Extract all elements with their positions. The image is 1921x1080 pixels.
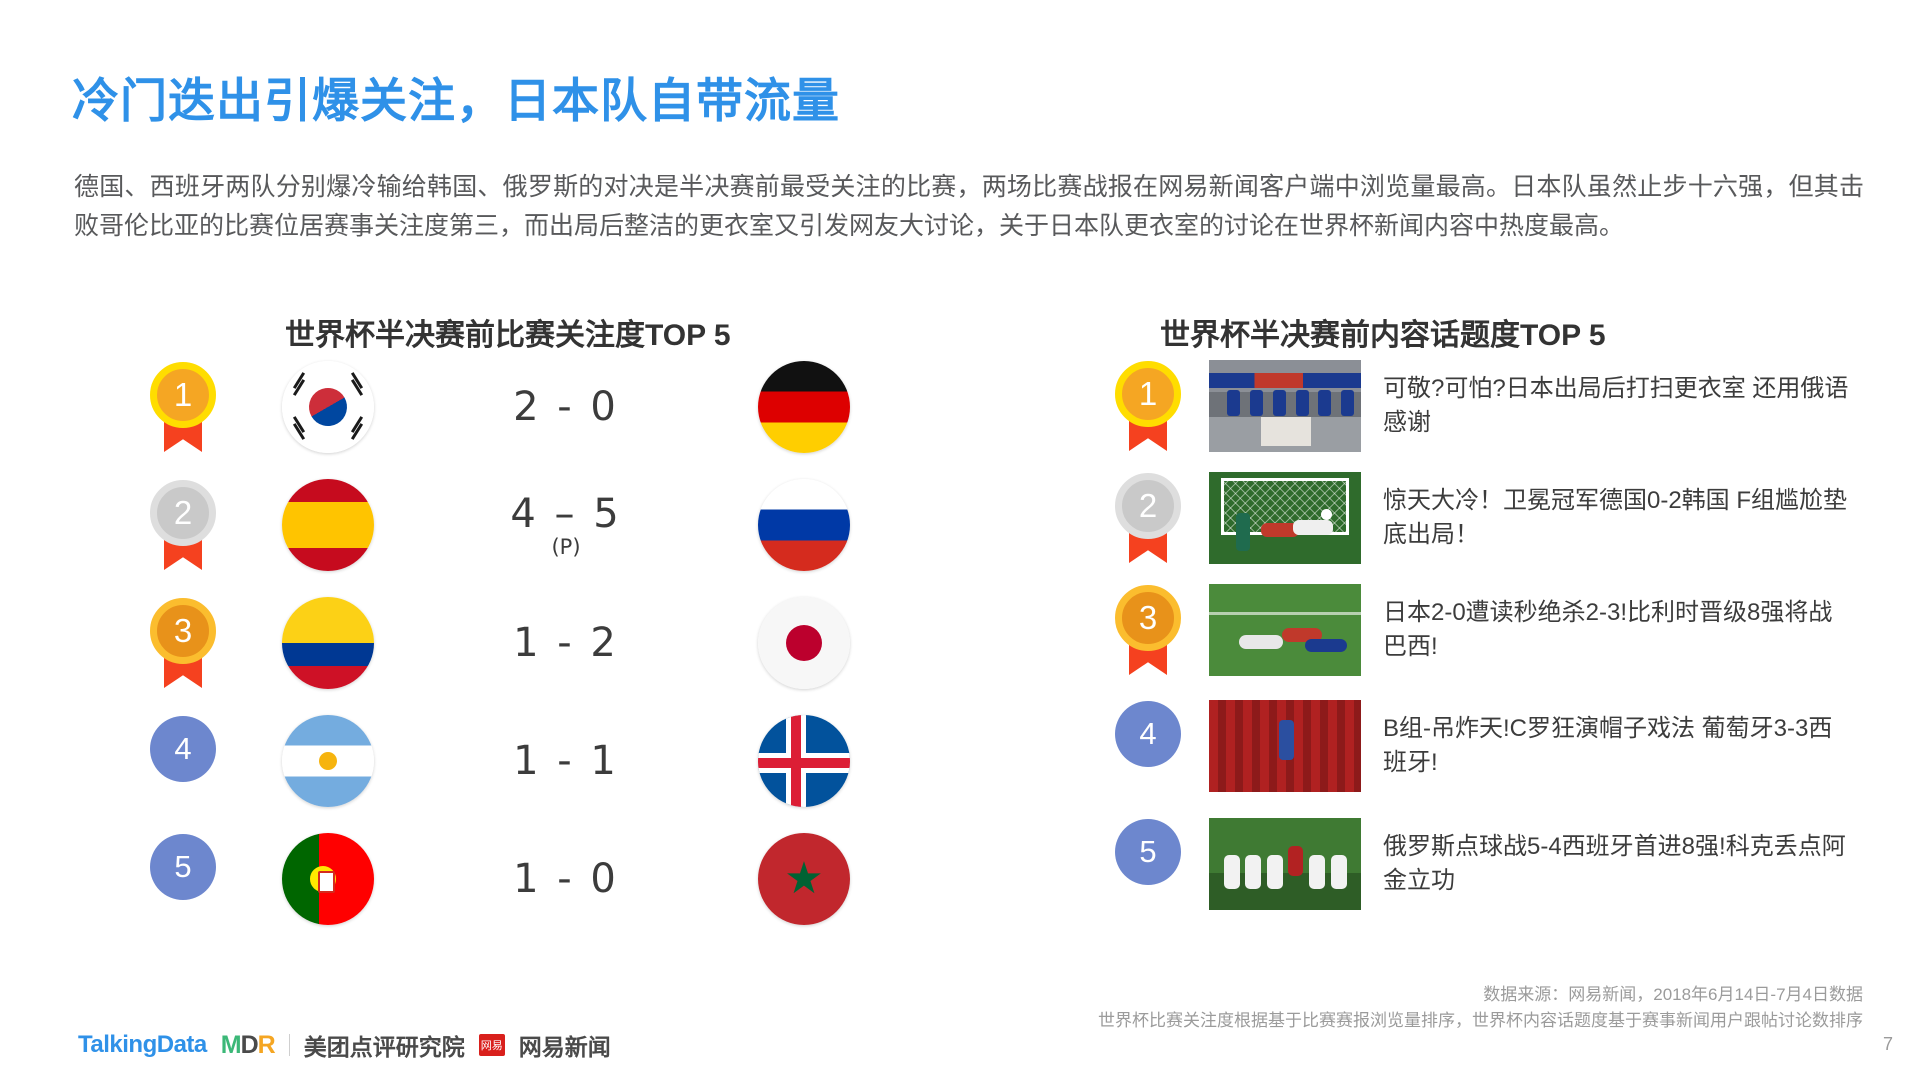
match-score-cell: 1 - 1 xyxy=(374,738,758,784)
news-rank-medal-1: 1 xyxy=(1115,361,1191,451)
mdr-logo: MDR xyxy=(221,1031,275,1060)
match-score: 4 – 5 xyxy=(374,491,758,537)
news-rank-medal-2: 2 xyxy=(1115,473,1191,563)
meituan-research-logo: 美团点评研究院 xyxy=(304,1028,465,1062)
match-score: 1 - 1 xyxy=(374,738,758,784)
away-team-flag-japan-icon xyxy=(758,597,850,689)
away-team-flag-russia-icon xyxy=(758,479,850,571)
match-row: 41 - 1 xyxy=(150,702,850,820)
rank-medal-3: 3 xyxy=(150,598,226,688)
home-team-flag-korea-icon xyxy=(282,361,374,453)
news-row[interactable]: 2惊天大冷！卫冕冠军德国0-2韩国 F组尴尬垫底出局！ xyxy=(1115,462,1855,574)
news-rank-medal-4: 4 xyxy=(1115,701,1191,791)
score-note: (P) xyxy=(374,535,758,559)
home-team-flag-portugal-icon xyxy=(282,833,374,925)
home-team-flag-spain-icon xyxy=(282,479,374,571)
home-team-flag-argentina-icon xyxy=(282,715,374,807)
away-team-flag-germany-icon xyxy=(758,361,850,453)
news-headline[interactable]: 惊天大冷！卫冕冠军德国0-2韩国 F组尴尬垫底出局！ xyxy=(1383,484,1853,552)
news-thumbnail[interactable] xyxy=(1209,818,1361,910)
page-title: 冷门迭出引爆关注，日本队自带流量 xyxy=(72,62,840,131)
news-headline[interactable]: B组-吊炸天!C罗狂演帽子戏法 葡萄牙3-3西班牙! xyxy=(1383,712,1853,780)
match-score-cell: 1 - 2 xyxy=(374,620,758,666)
rank-medal-1: 1 xyxy=(150,362,226,452)
source-line-1: 数据来源：网易新闻，2018年6月14日-7月4日数据 xyxy=(1483,985,1863,1004)
away-team-flag-iceland-icon xyxy=(758,715,850,807)
match-score: 2 - 0 xyxy=(374,384,758,430)
match-score: 1 - 2 xyxy=(374,620,758,666)
rank-number: 4 xyxy=(150,716,216,782)
footer-logos: TalkingData MDR 美团点评研究院 网易 网易新闻 xyxy=(78,1028,611,1062)
match-row: 24 – 5(P) xyxy=(150,466,850,584)
page-number: 7 xyxy=(1883,1034,1893,1055)
netease-badge-icon: 网易 xyxy=(479,1034,505,1056)
news-headline[interactable]: 可敬?可怕?日本出局后打扫更衣室 还用俄语感谢 xyxy=(1383,372,1853,440)
match-row: 31 - 2 xyxy=(150,584,850,702)
match-score: 1 - 0 xyxy=(374,856,758,902)
news-row[interactable]: 4B组-吊炸天!C罗狂演帽子戏法 葡萄牙3-3西班牙! xyxy=(1115,690,1855,802)
data-source-note: 数据来源：网易新闻，2018年6月14日-7月4日数据 世界杯比赛关注度根据基于… xyxy=(1098,982,1863,1034)
rank-number: 1 xyxy=(150,362,216,428)
match-score-cell: 1 - 0 xyxy=(374,856,758,902)
news-headline[interactable]: 日本2-0遭读秒绝杀2-3!比利时晋级8强将战巴西! xyxy=(1383,596,1853,664)
netease-news-logo: 网易新闻 xyxy=(519,1028,611,1062)
rank-number: 5 xyxy=(1115,819,1181,885)
source-line-2: 世界杯比赛关注度根据基于比赛赛报浏览量排序，世界杯内容话题度基于赛事新闻用户跟帖… xyxy=(1098,1008,1863,1034)
news-thumbnail[interactable] xyxy=(1209,700,1361,792)
right-section-title: 世界杯半决赛前内容话题度TOP 5 xyxy=(1160,310,1606,354)
match-score-cell: 2 - 0 xyxy=(374,384,758,430)
news-headline[interactable]: 俄罗斯点球战5-4西班牙首进8强!科克丢点阿金立功 xyxy=(1383,830,1853,898)
rank-number: 4 xyxy=(1115,701,1181,767)
news-thumbnail[interactable] xyxy=(1209,584,1361,676)
rank-medal-4: 4 xyxy=(150,716,226,806)
talkingdata-logo: TalkingData xyxy=(78,1031,207,1059)
match-row: 12 - 0 xyxy=(150,348,850,466)
home-team-flag-colombia-icon xyxy=(282,597,374,689)
news-thumbnail[interactable] xyxy=(1209,472,1361,564)
rank-number: 1 xyxy=(1115,361,1181,427)
rank-number: 2 xyxy=(150,480,216,546)
rank-number: 3 xyxy=(1115,585,1181,651)
rank-number: 3 xyxy=(150,598,216,664)
match-score-cell: 4 – 5(P) xyxy=(374,491,758,559)
news-row[interactable]: 3日本2-0遭读秒绝杀2-3!比利时晋级8强将战巴西! xyxy=(1115,574,1855,686)
rank-number: 2 xyxy=(1115,473,1181,539)
rank-number: 5 xyxy=(150,834,216,900)
news-thumbnail[interactable] xyxy=(1209,360,1361,452)
rank-medal-2: 2 xyxy=(150,480,226,570)
news-row[interactable]: 1可敬?可怕?日本出局后打扫更衣室 还用俄语感谢 xyxy=(1115,350,1855,462)
news-rank-medal-3: 3 xyxy=(1115,585,1191,675)
intro-paragraph: 德国、西班牙两队分别爆冷输给韩国、俄罗斯的对决是半决赛前最受关注的比赛，两场比赛… xyxy=(74,168,1864,246)
news-row[interactable]: 5俄罗斯点球战5-4西班牙首进8强!科克丢点阿金立功 xyxy=(1115,808,1855,920)
slide-root: 冷门迭出引爆关注，日本队自带流量 德国、西班牙两队分别爆冷输给韩国、俄罗斯的对决… xyxy=(0,0,1921,1080)
match-row: 51 - 0★ xyxy=(150,820,850,938)
rank-medal-5: 5 xyxy=(150,834,226,924)
away-team-flag-morocco-icon: ★ xyxy=(758,833,850,925)
logo-divider xyxy=(289,1034,290,1056)
news-rank-medal-5: 5 xyxy=(1115,819,1191,909)
